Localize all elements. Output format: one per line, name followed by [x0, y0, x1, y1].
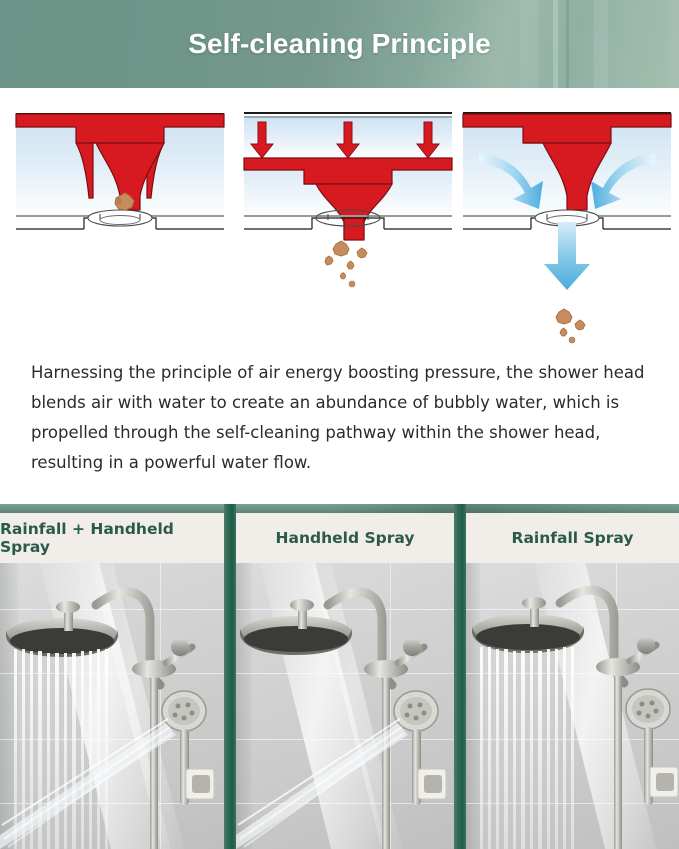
rainfall-water-jets: [480, 647, 574, 849]
ejected-debris: [325, 241, 367, 287]
handheld-water-spray: [0, 719, 176, 849]
spray-mode-label-rainfall-handheld: Rainfall + Handheld Spray: [0, 513, 224, 563]
shower-fixture: [466, 563, 679, 849]
handheld-shower-head: [394, 691, 446, 805]
diagram-stage-3: [455, 88, 679, 358]
handheld-shower-head: [162, 691, 214, 805]
page-title: Self-cleaning Principle: [0, 0, 679, 88]
section-divider-shadow: [330, 504, 679, 513]
spray-mode-photo-handheld: [236, 563, 454, 849]
diagram-stage-2: [236, 88, 460, 358]
stage-1-graphics: [8, 88, 232, 358]
spray-mode-label-handheld: Handheld Spray: [236, 513, 454, 563]
diagram-stage-1: [8, 88, 232, 358]
page-header: Self-cleaning Principle: [0, 0, 679, 88]
shower-fixture: [236, 563, 454, 849]
spray-mode-photo-rainfall-handheld: [0, 563, 224, 849]
self-cleaning-principle-diagram: [0, 88, 679, 358]
spray-mode-label-rainfall: Rainfall Spray: [466, 513, 679, 563]
spray-mode-label-bar: Rainfall + Handheld Spray Handheld Spray…: [0, 513, 679, 563]
shower-fixture: [0, 563, 224, 849]
flushed-debris: [556, 309, 585, 343]
spray-mode-gallery: [0, 563, 679, 849]
flush-arrow: [544, 222, 590, 290]
stage-3-graphics: [455, 88, 679, 358]
panel-divider-2: [454, 504, 466, 849]
stage-2-graphics: [236, 88, 460, 358]
panel-divider-1: [224, 504, 236, 849]
description-paragraph: Harnessing the principle of air energy b…: [31, 358, 653, 478]
spray-mode-photo-rainfall: [466, 563, 679, 849]
handheld-shower-head: [626, 689, 678, 805]
